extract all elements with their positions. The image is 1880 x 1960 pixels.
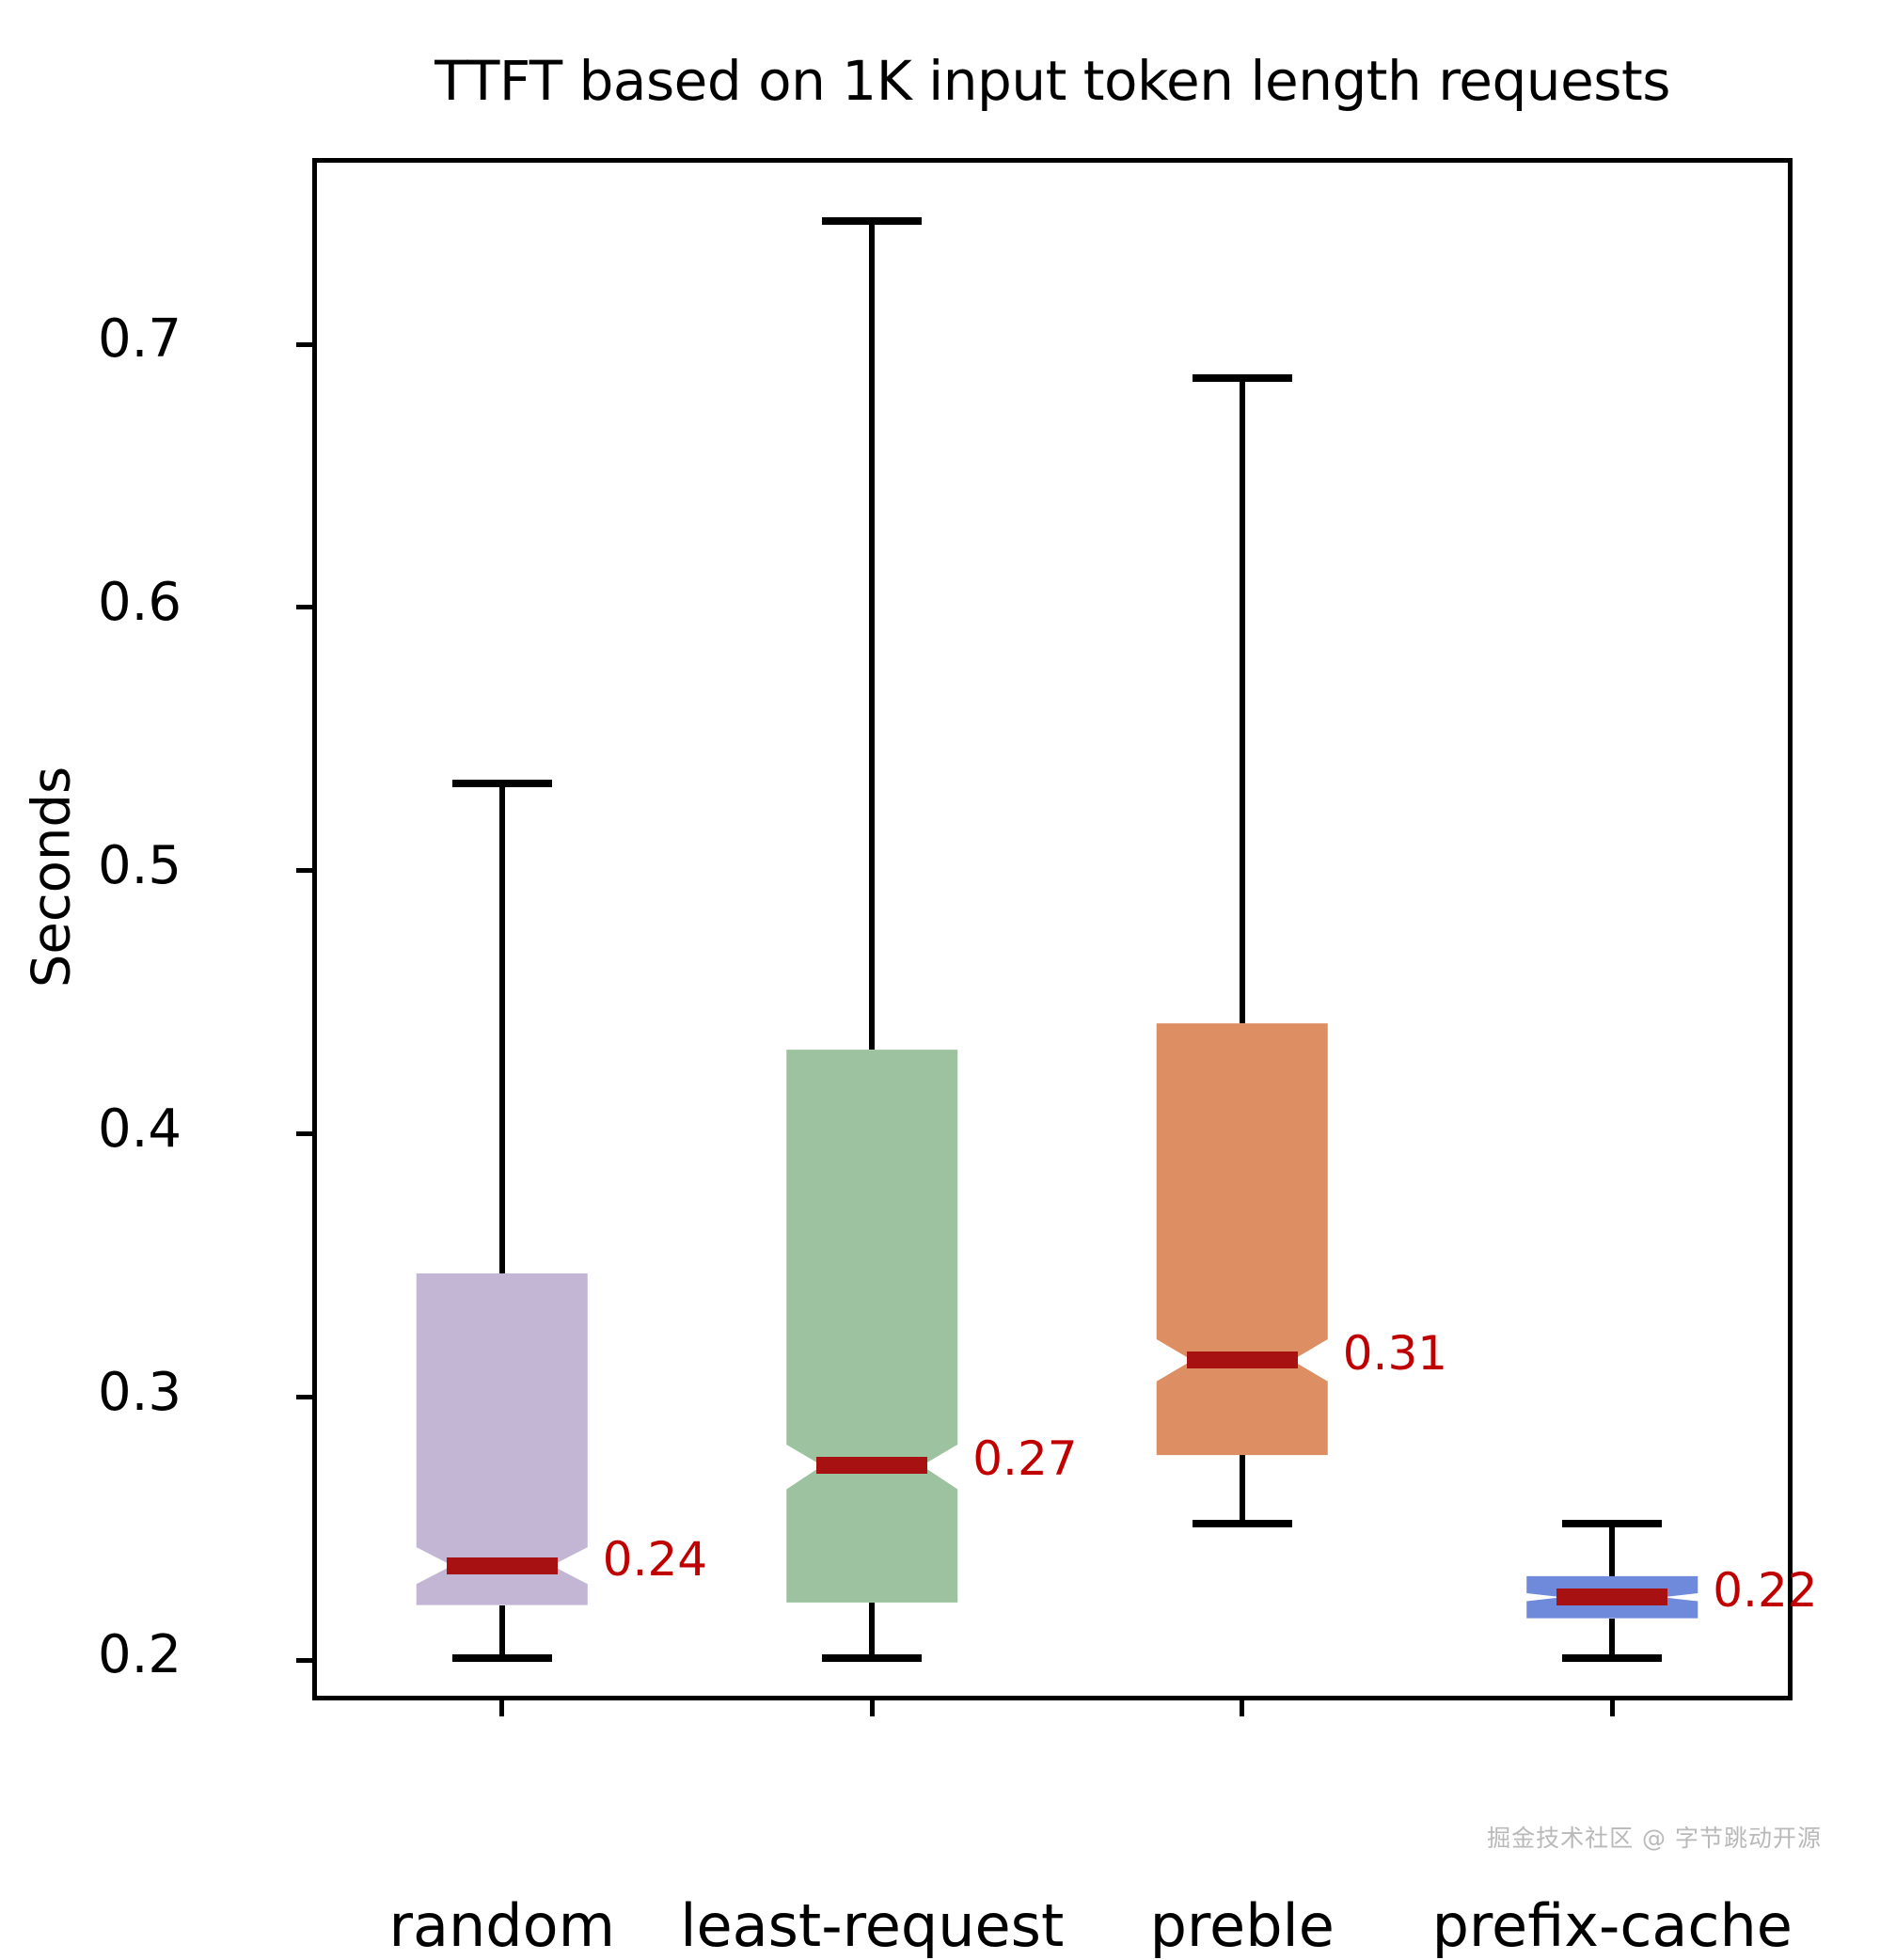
y-axis-tick-mark [296, 1395, 317, 1399]
x-axis-tick-label-preble: preble [1150, 1891, 1335, 1960]
y-axis-tick-label: 0.5 [0, 835, 182, 896]
y-axis-tick-mark [296, 868, 317, 873]
y-axis-tick-label: 0.6 [0, 572, 182, 633]
y-axis-tick-mark [296, 605, 317, 609]
median-value-label-prefix-cache: 0.22 [1713, 1563, 1817, 1618]
y-axis-tick-label: 0.3 [0, 1362, 182, 1423]
y-axis-tick-label: 0.4 [0, 1099, 182, 1160]
chart-figure: TTFT based on 1K input token length requ… [0, 0, 1880, 1880]
box-prefix-cache[interactable] [317, 163, 1797, 1705]
chart-title: TTFT based on 1K input token length requ… [312, 49, 1793, 113]
x-axis-tick-label-random: random [389, 1891, 615, 1960]
y-axis-tick-mark [296, 1131, 317, 1136]
watermark: 掘金技术社区 @ 字节跳动开源 [1487, 1820, 1822, 1854]
x-axis-tick-label-least-request: least-request [680, 1891, 1064, 1960]
y-axis-tick-mark [296, 1658, 317, 1663]
median-line-prefix-cache [1556, 1589, 1667, 1605]
plot-area: 0.20.30.40.50.60.7randomleast-requestpre… [312, 158, 1793, 1700]
plot-inner: 0.20.30.40.50.60.7randomleast-requestpre… [317, 163, 1788, 1696]
x-axis-tick-label-prefix-cache: prefix-cache [1432, 1891, 1793, 1960]
y-axis-tick-mark [296, 342, 317, 347]
y-axis-tick-label: 0.7 [0, 308, 182, 370]
y-axis-tick-label: 0.2 [0, 1624, 182, 1685]
